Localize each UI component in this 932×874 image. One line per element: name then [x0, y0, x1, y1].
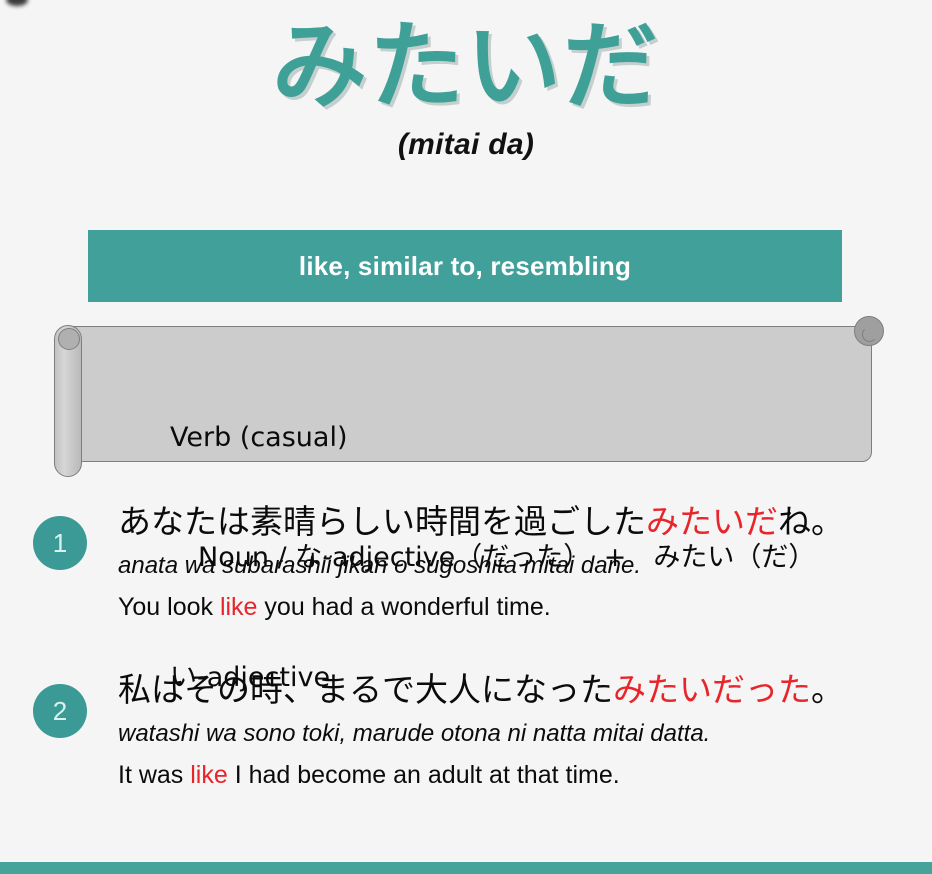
example-english: It was like I had become an adult at tha…: [118, 759, 932, 791]
example-english-suffix: I had become an adult at that time.: [228, 761, 620, 789]
example-japanese-prefix: あなたは素晴らしい時間を過ごした: [118, 502, 646, 541]
example-item: 2 私はその時、まるで大人になったみたいだった。 watashi wa sono…: [0, 668, 932, 828]
example-item: 1 あなたは素晴らしい時間を過ごしたみたいだね。 anata wa subara…: [0, 500, 932, 660]
title-romaji: (mitai da): [0, 128, 932, 162]
page-title: みたいだ: [0, 18, 932, 118]
formula-scroll: Verb (casual) Noun / な-adjective（だった） + …: [42, 316, 890, 476]
scroll-roll-right-cap-icon: [862, 327, 877, 342]
formula-line-verb: Verb (casual): [170, 418, 815, 458]
example-english: You look like you had a wonderful time.: [118, 591, 932, 623]
example-english-prefix: You look: [118, 593, 220, 621]
meaning-text: like, similar to, resembling: [299, 251, 631, 282]
example-english-suffix: you had a wonderful time.: [257, 593, 550, 621]
title-block: みたいだ (mitai da): [0, 0, 932, 162]
meaning-banner: like, similar to, resembling: [88, 230, 842, 302]
examples-list: 1 あなたは素晴らしい時間を過ごしたみたいだね。 anata wa subara…: [0, 500, 932, 828]
grammar-card: みたいだ (mitai da) like, similar to, resemb…: [0, 0, 932, 874]
example-english-highlight: like: [190, 761, 228, 789]
example-english-prefix: It was: [118, 761, 190, 789]
example-japanese: 私はその時、まるで大人になったみたいだった。: [118, 668, 932, 712]
example-romaji: anata wa subarashii jikan o sugoshita mi…: [118, 550, 932, 582]
example-japanese: あなたは素晴らしい時間を過ごしたみたいだね。: [118, 500, 932, 544]
example-japanese-prefix: 私はその時、まるで大人になった: [118, 670, 613, 709]
bottom-accent-bar: [0, 862, 932, 874]
example-japanese-highlight: みたいだった: [613, 670, 811, 709]
example-number-badge: 2: [33, 684, 87, 738]
example-english-highlight: like: [220, 593, 258, 621]
example-japanese-suffix: 。: [811, 670, 844, 709]
example-romaji: watashi wa sono toki, marude otona ni na…: [118, 718, 932, 750]
example-number-badge: 1: [33, 516, 87, 570]
scroll-roll-left-cap-icon: [58, 328, 80, 350]
example-japanese-suffix: ね。: [778, 502, 844, 541]
example-japanese-highlight: みたいだ: [646, 502, 778, 541]
